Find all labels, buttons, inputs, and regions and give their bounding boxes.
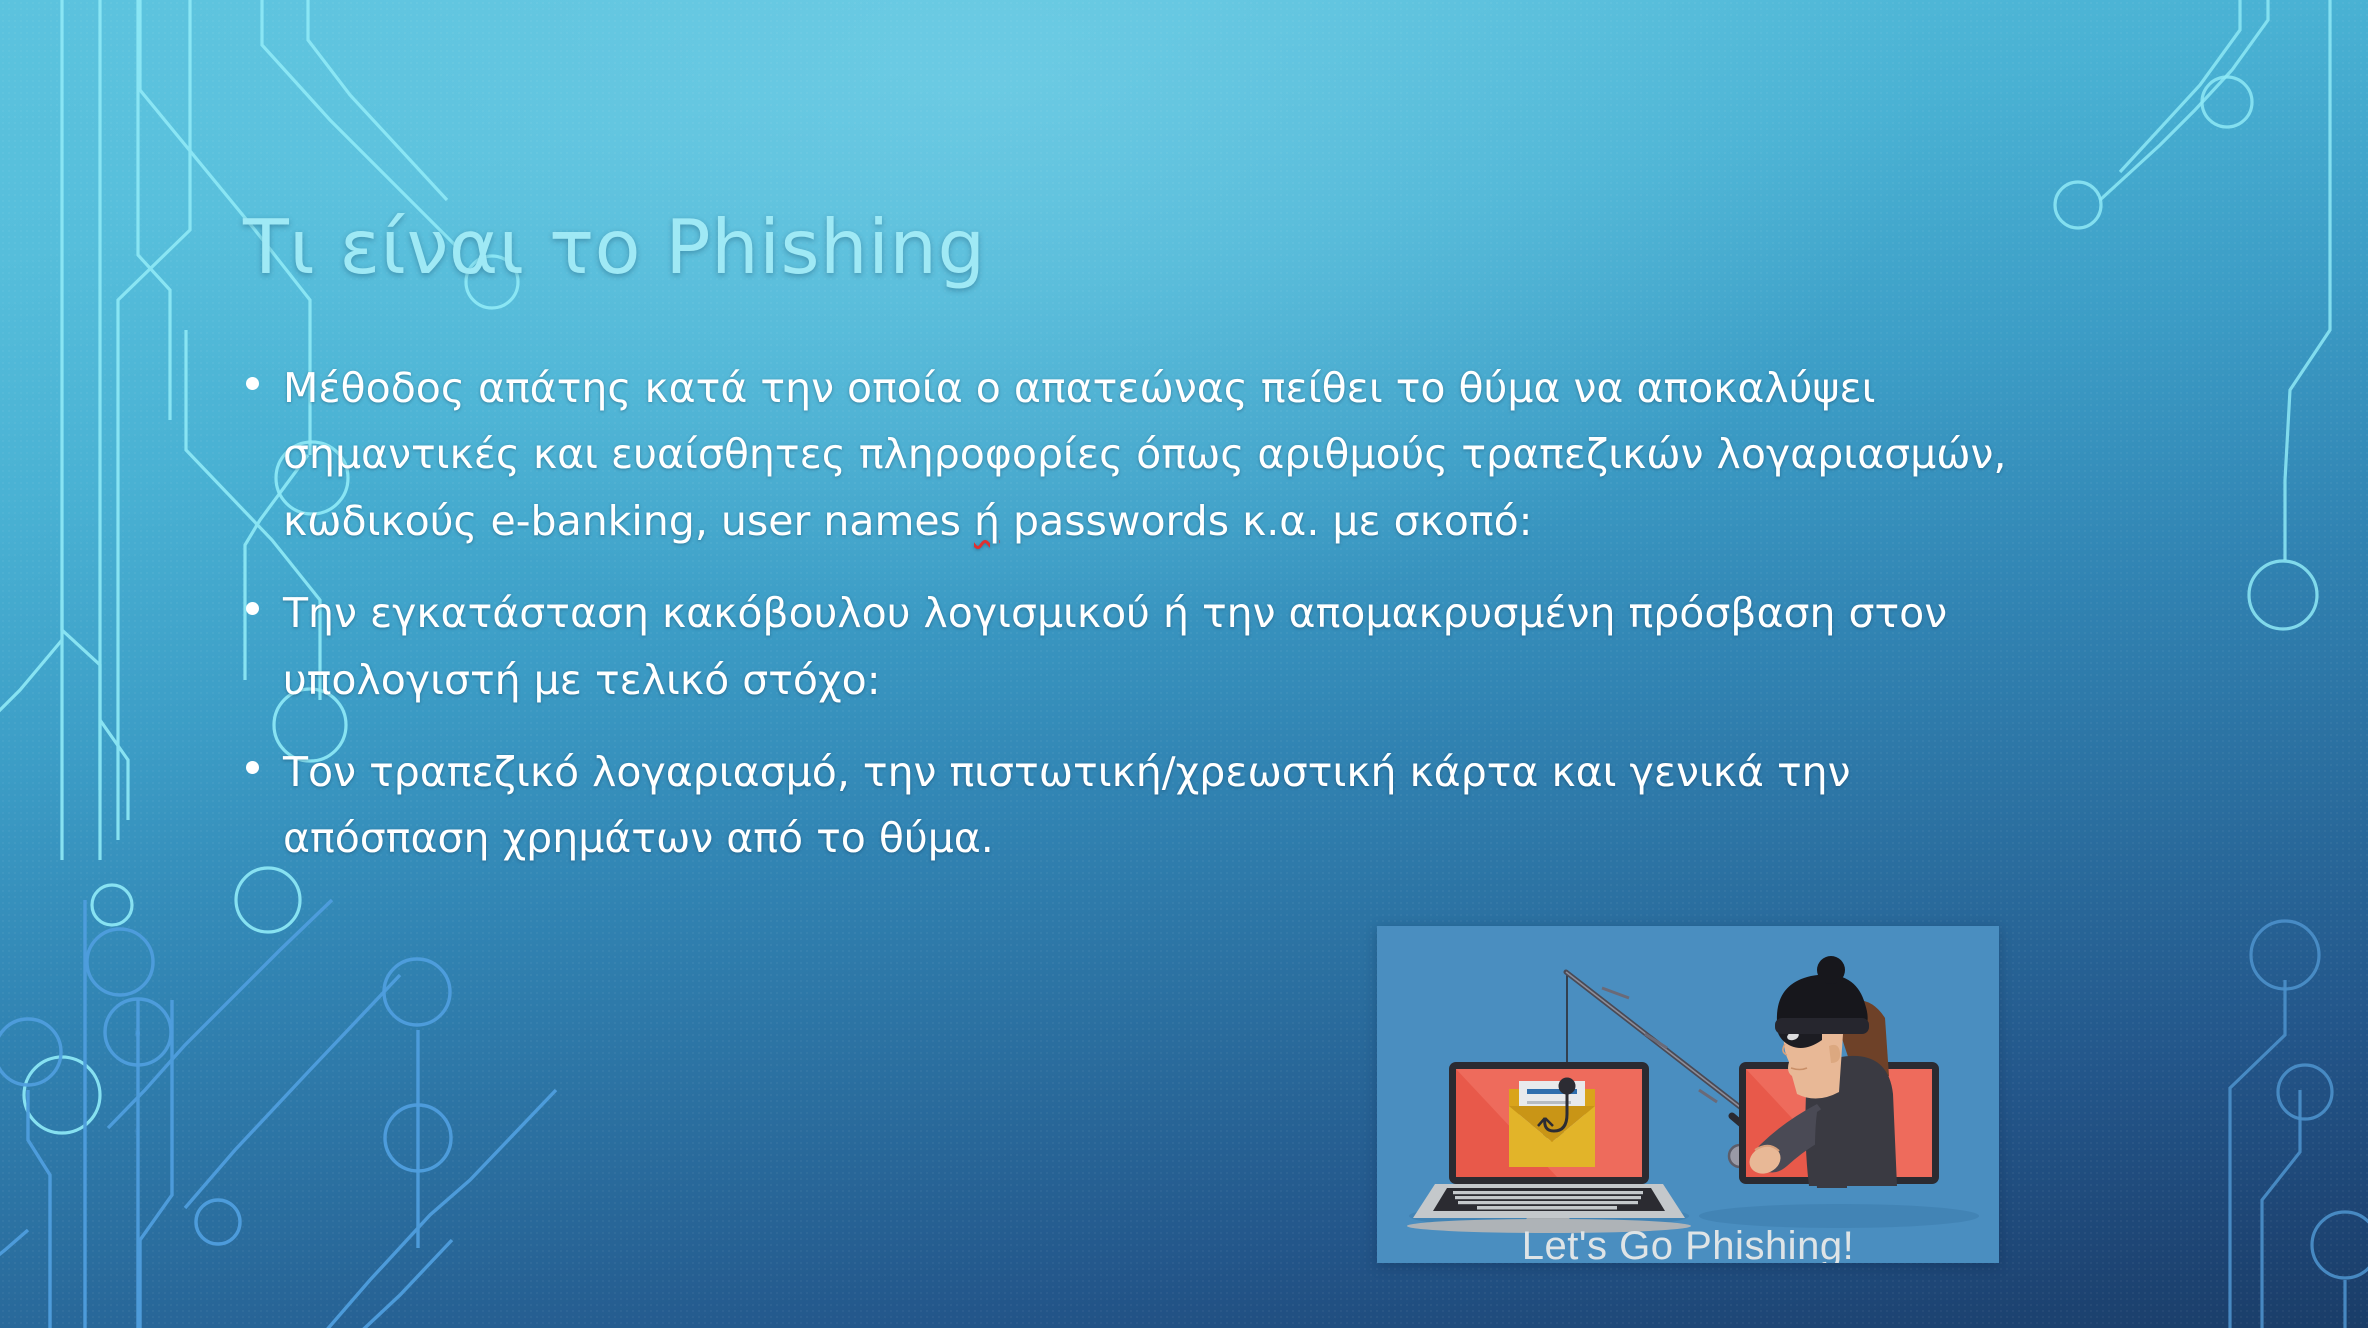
presentation-slide: Τι είναι το Phishing Μέθοδος απάτης κατά…	[0, 0, 2368, 1328]
circuit-vias-bottom-right	[2251, 921, 2368, 1278]
list-item: Μέθοδος απάτης κατά την οποία ο απατεώνα…	[238, 355, 2138, 554]
slide-title: Τι είναι το Phishing	[243, 203, 986, 291]
bullet-1-misspelled-word: ή	[974, 497, 1000, 545]
slide-body: Μέθοδος απάτης κατά την οποία ο απατεώνα…	[238, 355, 2138, 898]
list-item: Την εγκατάσταση κακόβουλου λογισμικού ή …	[238, 580, 2138, 713]
bullet-text-1: Μέθοδος απάτης κατά την οποία ο απατεώνα…	[283, 355, 2118, 554]
bullet-text-2: Την εγκατάσταση κακόβουλου λογισμικού ή …	[283, 580, 2138, 713]
circuit-vias-bottom-left	[0, 929, 451, 1244]
bullet-1-text-after: passwords κ.α. με σκοπό:	[1000, 497, 1532, 545]
bullet-dot-icon	[246, 602, 259, 615]
bullet-dot-icon	[246, 377, 259, 390]
victim-laptop	[1407, 1062, 1691, 1233]
circuit-traces-bottom-right	[2230, 980, 2345, 1328]
circuit-traces-bottom-left	[0, 900, 556, 1328]
phishing-illustration: Let's Go Phishing!	[1377, 926, 1999, 1263]
illustration-caption: Let's Go Phishing!	[1377, 1224, 1999, 1263]
bullet-dot-icon	[246, 761, 259, 774]
bullet-text-3: Τον τραπεζικό λογαριασμό, την πιστωτική/…	[283, 739, 1983, 872]
list-item: Τον τραπεζικό λογαριασμό, την πιστωτική/…	[238, 739, 2138, 872]
